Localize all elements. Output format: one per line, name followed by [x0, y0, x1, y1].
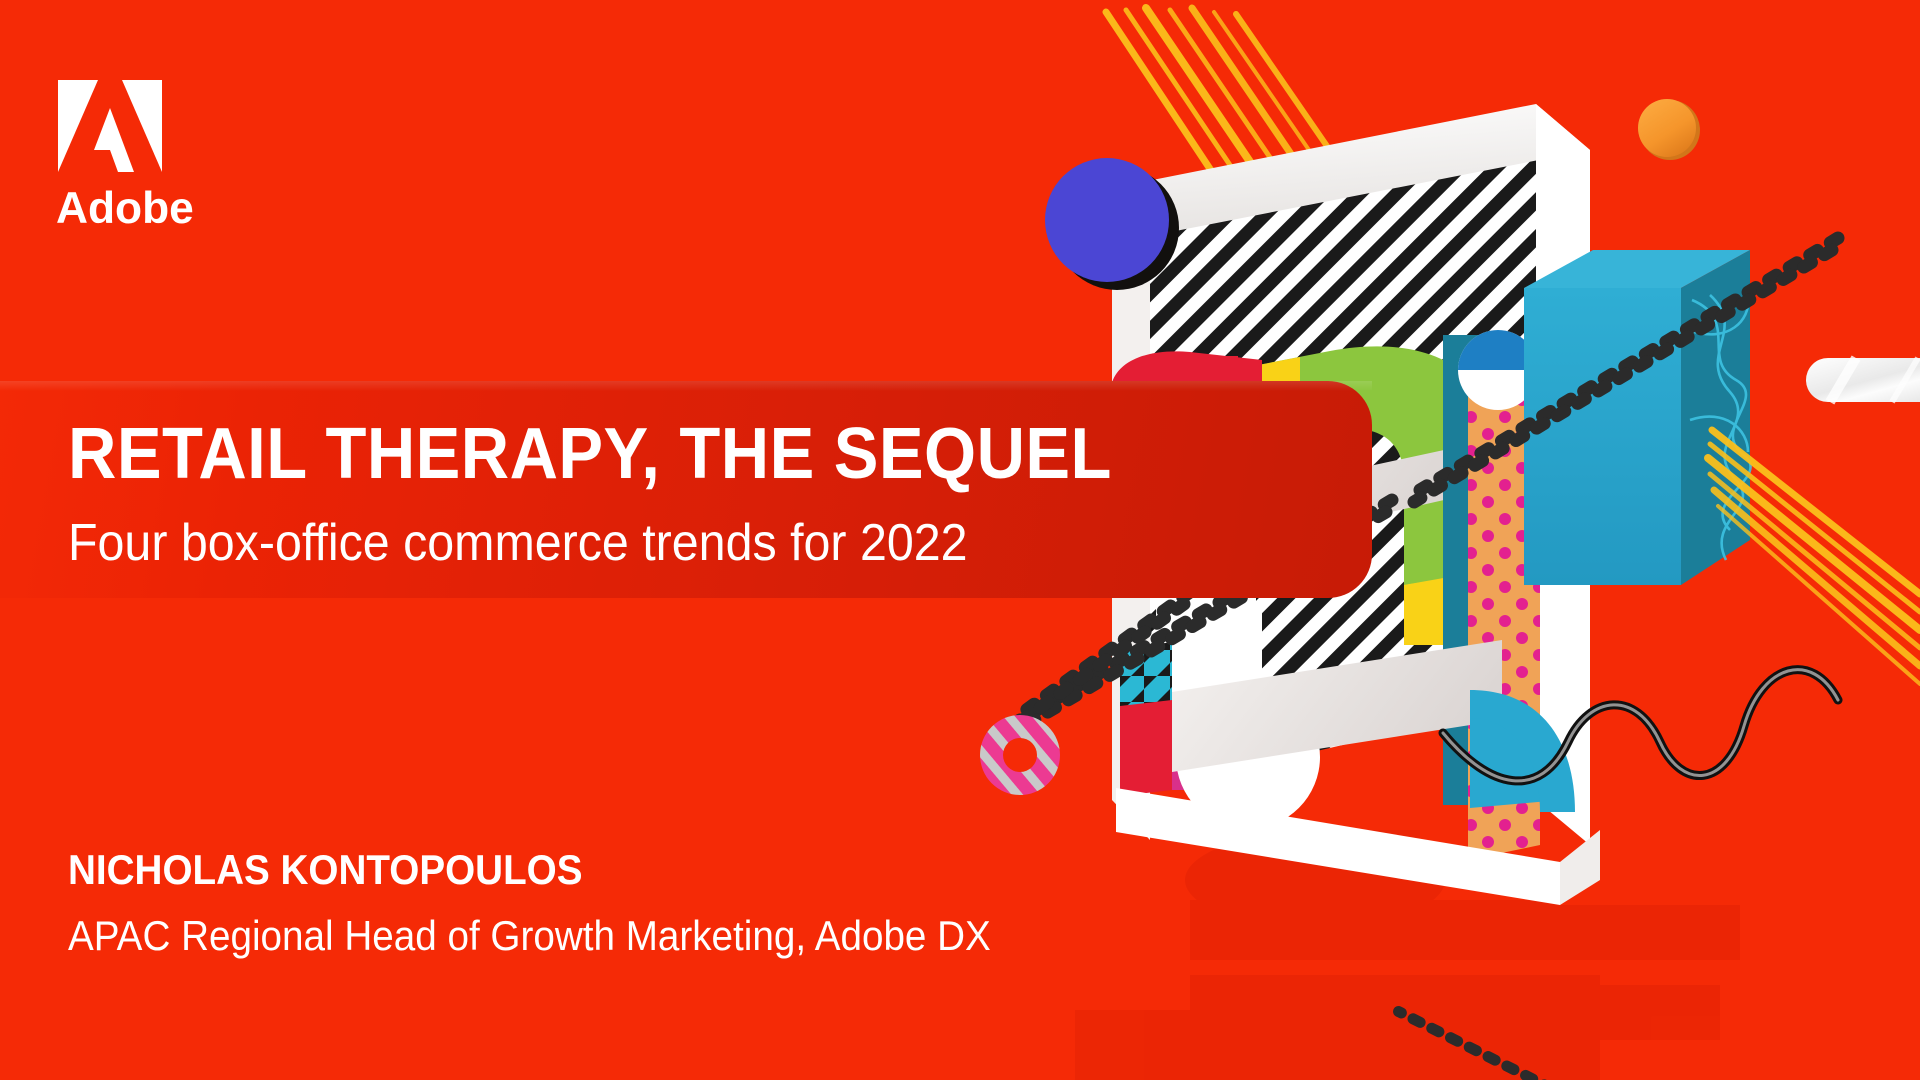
- orange-sphere: [1638, 99, 1700, 160]
- white-pill: [1806, 358, 1920, 402]
- page-title: RETAIL THERAPY, THE SEQUEL: [68, 418, 1277, 490]
- pink-striped-ring: [980, 715, 1060, 795]
- adobe-logo: Adobe: [56, 78, 246, 232]
- speaker-name: NICHOLAS KONTOPOULOS: [68, 848, 991, 892]
- slide-canvas: Adobe RETAIL THERAPY, THE SEQUEL Four bo…: [0, 0, 1920, 1080]
- page-subtitle: Four box-office commerce trends for 2022: [68, 516, 1277, 571]
- adobe-wordmark-text: Adobe: [56, 184, 194, 232]
- speaker-group: NICHOLAS KONTOPOULOS APAC Regional Head …: [68, 848, 1071, 958]
- adobe-wordmark: Adobe: [56, 184, 250, 232]
- headline-group: RETAIL THERAPY, THE SEQUEL Four box-offi…: [68, 418, 1368, 571]
- adobe-a-logo-icon: [56, 78, 164, 174]
- purple-circle: [1045, 158, 1179, 290]
- speaker-role: APAC Regional Head of Growth Marketing, …: [68, 914, 991, 958]
- yellow-brush-strokes-right: [1708, 430, 1920, 684]
